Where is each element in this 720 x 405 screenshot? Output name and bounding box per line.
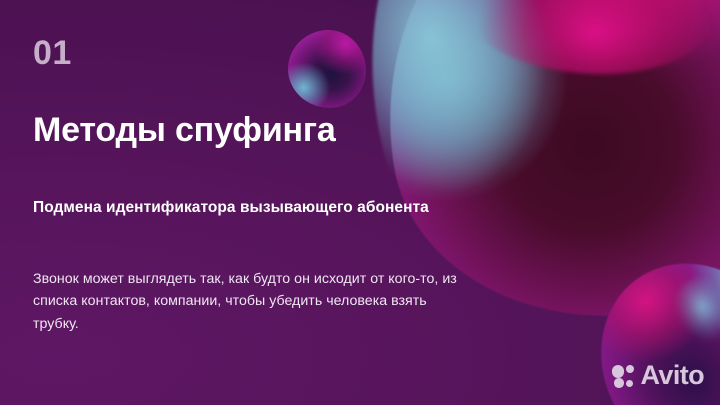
logo-dot-large xyxy=(612,365,625,378)
slide-body-text: Звонок может выглядеть так, как будто он… xyxy=(33,268,465,335)
avito-logo: Avito xyxy=(612,361,705,391)
slide-title: Методы спуфинга xyxy=(33,110,336,150)
slide-subtitle: Подмена идентификатора вызывающего абоне… xyxy=(33,197,463,219)
logo-dot-tiny xyxy=(626,380,633,387)
slide-number: 01 xyxy=(33,36,72,70)
logo-dot-small xyxy=(614,378,624,388)
presentation-slide: 01 Методы спуфинга Подмена идентификатор… xyxy=(0,0,720,405)
avito-dots-icon xyxy=(612,364,636,388)
logo-dot-medium xyxy=(626,365,635,374)
avito-wordmark: Avito xyxy=(641,362,705,389)
slide-content: 01 Методы спуфинга Подмена идентификатор… xyxy=(33,0,493,405)
blob-main-magenta-crest xyxy=(470,0,720,74)
